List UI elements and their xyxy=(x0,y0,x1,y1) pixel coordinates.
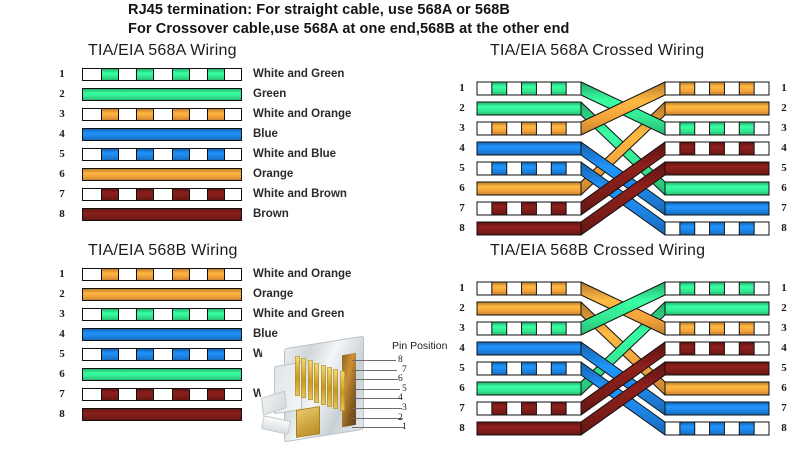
pin-number: 5 xyxy=(55,348,69,361)
wire-stripe xyxy=(492,202,507,215)
right-wire-stub xyxy=(665,222,769,235)
pin-number: 6 xyxy=(55,168,69,181)
wire-stripe xyxy=(739,142,754,155)
gold-contact xyxy=(314,363,319,403)
wire-swatch xyxy=(82,388,242,401)
header-note-line2: For Crossover cable,use 568A at one end,… xyxy=(128,20,688,39)
left-wire-stub xyxy=(477,422,581,435)
right-wire-stub xyxy=(665,342,769,355)
wire-stripe xyxy=(172,149,190,160)
pin-number-right: 3 xyxy=(777,322,791,335)
wire-stripe xyxy=(680,342,695,355)
panel-568a-wiring-title: TIA/EIA 568A Wiring xyxy=(88,42,237,60)
right-wire-stub xyxy=(665,162,769,175)
pin-number: 2 xyxy=(55,88,69,101)
wire-stripe xyxy=(680,422,695,435)
wire-stripe xyxy=(551,162,566,175)
left-wire-stub xyxy=(477,142,581,155)
right-wire-stub xyxy=(665,282,769,295)
pin-position-callout: Pin Position 87654321 xyxy=(392,340,452,440)
pin-number-right: 3 xyxy=(777,122,791,135)
wire-stripe xyxy=(551,282,566,295)
pin-number-right: 1 xyxy=(777,282,791,295)
right-wire-stub xyxy=(665,402,769,415)
wire-stripe xyxy=(172,349,190,360)
wire-stripe xyxy=(101,269,119,280)
left-wire-stub xyxy=(477,222,581,235)
leader-line xyxy=(352,398,401,399)
wire-stripe xyxy=(522,162,537,175)
panel-568a-wiring: TIA/EIA 568A Wiring 1White and Green2Gre… xyxy=(55,42,445,227)
pin-number-right: 5 xyxy=(777,362,791,375)
wire-stripe xyxy=(492,402,507,415)
pin-number-right: 1 xyxy=(777,82,791,95)
wire-swatch xyxy=(82,148,242,161)
left-wire-stub xyxy=(477,102,581,115)
pin-position-number: 8 xyxy=(398,356,403,365)
wire-swatch xyxy=(82,268,242,281)
pin-position-number: 3 xyxy=(402,404,407,413)
wire-stripe xyxy=(101,149,119,160)
wire-stripe xyxy=(101,69,119,80)
wire-label: Brown xyxy=(253,208,289,221)
pin-number: 4 xyxy=(55,128,69,141)
wire-stripe xyxy=(551,362,566,375)
wire-stripe xyxy=(172,389,190,400)
left-wire-stub xyxy=(477,162,581,175)
wire-stripe xyxy=(710,122,725,135)
wire-stripe xyxy=(710,142,725,155)
gold-contact xyxy=(327,367,332,407)
wire-stripe xyxy=(136,389,154,400)
wire-stripe xyxy=(136,309,154,320)
left-wire-stub xyxy=(477,202,581,215)
wire-stripe xyxy=(551,402,566,415)
pin-number-right: 2 xyxy=(777,302,791,315)
wire-stripe xyxy=(492,82,507,95)
wire-stripe xyxy=(172,309,190,320)
wire-stripe xyxy=(207,109,225,120)
wire-stripe xyxy=(136,189,154,200)
wire-stripe xyxy=(207,389,225,400)
pin-number: 3 xyxy=(55,308,69,321)
wire-stripe xyxy=(739,122,754,135)
wire-stripe xyxy=(522,282,537,295)
wire-stripe xyxy=(739,282,754,295)
wire-swatch xyxy=(82,128,242,141)
left-wire-stub xyxy=(477,402,581,415)
wire-stripe xyxy=(101,389,119,400)
wire-label: Blue xyxy=(253,128,278,141)
wire-stripe xyxy=(710,82,725,95)
wire-swatch xyxy=(82,68,242,81)
wire-stripe xyxy=(680,222,695,235)
right-wire-stub xyxy=(665,102,769,115)
pin-number-left: 8 xyxy=(455,422,469,435)
pin-number-right: 7 xyxy=(777,202,791,215)
wire-stripe xyxy=(522,402,537,415)
right-wire-stub xyxy=(665,322,769,335)
pin-number-left: 7 xyxy=(455,202,469,215)
pin-number-left: 8 xyxy=(455,222,469,235)
leader-line xyxy=(352,418,403,419)
wire-stripe xyxy=(207,69,225,80)
right-wire-stub xyxy=(665,82,769,95)
wire-stripe xyxy=(492,122,507,135)
wire-stripe xyxy=(101,109,119,120)
wire-stripe xyxy=(172,189,190,200)
wire-stripe xyxy=(101,309,119,320)
left-wire-stub xyxy=(477,342,581,355)
wire-label: White and Orange xyxy=(253,268,351,281)
pin-number-left: 6 xyxy=(455,382,469,395)
pin-number-left: 3 xyxy=(455,122,469,135)
gold-contact xyxy=(321,365,326,405)
wire-stripe xyxy=(492,282,507,295)
wire-stripe xyxy=(522,202,537,215)
pin-number: 8 xyxy=(55,408,69,421)
right-wire-stub xyxy=(665,142,769,155)
panel-568a-crossed: TIA/EIA 568A Crossed Wiring 123456781234… xyxy=(455,42,795,232)
wire-stripe xyxy=(136,69,154,80)
pin-number: 4 xyxy=(55,328,69,341)
wire-stripe xyxy=(136,349,154,360)
right-wire-stub xyxy=(665,422,769,435)
pin-number: 8 xyxy=(55,208,69,221)
pin-number-left: 1 xyxy=(455,82,469,95)
pin-number-right: 6 xyxy=(777,182,791,195)
wire-stripe xyxy=(492,322,507,335)
wire-swatch xyxy=(82,328,242,341)
wire-label: White and Green xyxy=(253,308,344,321)
right-wire-stub xyxy=(665,122,769,135)
wire-stripe xyxy=(522,122,537,135)
rj45-plug-photo xyxy=(262,336,384,448)
pin-number-right: 5 xyxy=(777,162,791,175)
wire-stripe xyxy=(522,322,537,335)
wire-swatch xyxy=(82,348,242,361)
left-wire-stub xyxy=(477,362,581,375)
pin-number-right: 4 xyxy=(777,342,791,355)
right-wire-stub xyxy=(665,362,769,375)
wire-swatch xyxy=(82,188,242,201)
gold-contact xyxy=(333,369,338,409)
pin-number: 1 xyxy=(55,268,69,281)
wire-label: White and Blue xyxy=(253,148,336,161)
pin-number-left: 2 xyxy=(455,302,469,315)
right-wire-stub xyxy=(665,202,769,215)
wire-stripe xyxy=(101,349,119,360)
pin-position-number: 1 xyxy=(402,423,407,432)
leader-line xyxy=(352,389,400,390)
left-wire-stub xyxy=(477,282,581,295)
gold-contact xyxy=(301,358,306,398)
pin-number: 7 xyxy=(55,188,69,201)
pin-number: 7 xyxy=(55,388,69,401)
pin-number-left: 4 xyxy=(455,342,469,355)
wire-stripe xyxy=(680,82,695,95)
wire-stripe xyxy=(680,122,695,135)
gold-contact xyxy=(340,371,345,411)
header-note: RJ45 termination: For straight cable, us… xyxy=(128,1,688,39)
pin-number: 5 xyxy=(55,148,69,161)
right-wire-stub xyxy=(665,382,769,395)
pin-number-left: 5 xyxy=(455,162,469,175)
wire-stripe xyxy=(680,142,695,155)
wire-stripe xyxy=(207,189,225,200)
leader-line xyxy=(352,360,396,361)
wire-label: Green xyxy=(253,88,286,101)
leader-line xyxy=(352,408,402,409)
leader-line xyxy=(352,379,398,380)
pin-number-left: 3 xyxy=(455,322,469,335)
wire-stripe xyxy=(172,69,190,80)
left-wire-stub xyxy=(477,82,581,95)
wire-stripe xyxy=(172,109,190,120)
wire-stripe xyxy=(207,349,225,360)
wire-swatch xyxy=(82,108,242,121)
wire-stripe xyxy=(551,122,566,135)
left-wire-stub xyxy=(477,302,581,315)
pin-number: 2 xyxy=(55,288,69,301)
wire-stripe xyxy=(101,189,119,200)
left-wire-stub xyxy=(477,182,581,195)
wire-stripe xyxy=(136,109,154,120)
wire-swatch xyxy=(82,368,242,381)
wire-stripe xyxy=(710,322,725,335)
pin-number: 3 xyxy=(55,108,69,121)
pin-number-right: 8 xyxy=(777,422,791,435)
pin-number: 1 xyxy=(55,68,69,81)
pin-number-left: 4 xyxy=(455,142,469,155)
pin-number-left: 6 xyxy=(455,182,469,195)
leader-line xyxy=(352,427,404,428)
pin-number-left: 2 xyxy=(455,102,469,115)
wire-stripe xyxy=(739,342,754,355)
pin-number-right: 2 xyxy=(777,102,791,115)
wire-swatch xyxy=(82,88,242,101)
header-note-line1: RJ45 termination: For straight cable, us… xyxy=(128,1,688,20)
wire-swatch xyxy=(82,308,242,321)
wire-stripe xyxy=(136,149,154,160)
wire-stripe xyxy=(739,322,754,335)
wire-stripe xyxy=(739,82,754,95)
pin-number-right: 6 xyxy=(777,382,791,395)
pin-number-right: 4 xyxy=(777,142,791,155)
wire-label: White and Brown xyxy=(253,188,347,201)
wire-stripe xyxy=(710,282,725,295)
wire-stripe xyxy=(551,322,566,335)
left-wire-stub xyxy=(477,122,581,135)
wire-label: White and Orange xyxy=(253,108,351,121)
panel-568b-crossed: TIA/EIA 568B Crossed Wiring 123456781234… xyxy=(455,242,795,432)
wire-stripe xyxy=(710,422,725,435)
wire-stripe xyxy=(492,162,507,175)
wire-swatch xyxy=(82,408,242,421)
pin-number-left: 7 xyxy=(455,402,469,415)
pin-number-left: 5 xyxy=(455,362,469,375)
wire-label: Orange xyxy=(253,288,293,301)
wire-stripe xyxy=(522,362,537,375)
pin-position-number: 6 xyxy=(398,375,403,384)
leader-line xyxy=(352,370,397,371)
wire-stripe xyxy=(739,422,754,435)
pin-number-right: 8 xyxy=(777,222,791,235)
pin-number-right: 7 xyxy=(777,402,791,415)
crossover-graphic-568b: 1234567812345678 xyxy=(455,256,791,446)
crossover-svg xyxy=(455,256,791,446)
diagram-canvas: RJ45 termination: For straight cable, us… xyxy=(0,0,800,450)
pin-number-left: 1 xyxy=(455,282,469,295)
panel-568b-wiring-title: TIA/EIA 568B Wiring xyxy=(88,242,238,260)
pin-number: 6 xyxy=(55,368,69,381)
wire-stripe xyxy=(207,149,225,160)
wire-stripe xyxy=(680,282,695,295)
plug-lower-gold xyxy=(296,406,320,438)
wire-stripe xyxy=(551,202,566,215)
wire-stripe xyxy=(710,342,725,355)
left-wire-stub xyxy=(477,382,581,395)
pin-position-label: Pin Position xyxy=(392,340,447,352)
wire-stripe xyxy=(172,269,190,280)
wire-stripe xyxy=(136,269,154,280)
wire-swatch xyxy=(82,288,242,301)
wire-stripe xyxy=(710,222,725,235)
wire-stripe xyxy=(522,82,537,95)
gold-contact xyxy=(308,360,313,400)
crossover-svg xyxy=(455,56,791,246)
wire-stripe xyxy=(207,309,225,320)
gold-contact xyxy=(295,356,300,396)
wire-swatch xyxy=(82,168,242,181)
right-wire-stub xyxy=(665,302,769,315)
wire-stripe xyxy=(551,82,566,95)
wire-label: White and Green xyxy=(253,68,344,81)
crossover-graphic-568a: 1234567812345678 xyxy=(455,56,791,246)
wire-stripe xyxy=(492,362,507,375)
left-wire-stub xyxy=(477,322,581,335)
wire-stripe xyxy=(739,222,754,235)
wire-stripe xyxy=(207,269,225,280)
wire-swatch xyxy=(82,208,242,221)
wire-label: Orange xyxy=(253,168,293,181)
wire-stripe xyxy=(680,322,695,335)
right-wire-stub xyxy=(665,182,769,195)
